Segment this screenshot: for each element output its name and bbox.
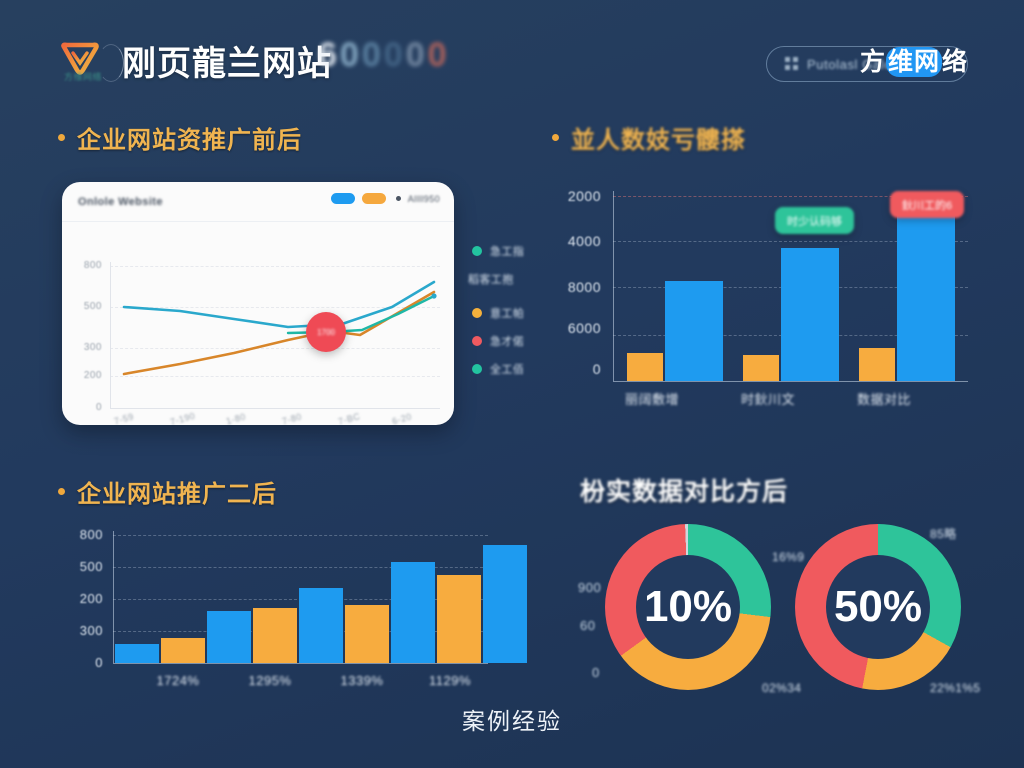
section-heading-bar-top: 並人数妓亏髏搽	[552, 120, 746, 155]
x-tick-label: 1129%	[407, 673, 493, 688]
bar-7[interactable]	[391, 562, 435, 663]
bar-blue-1[interactable]	[665, 281, 723, 381]
brand-watermark: 方维网络	[860, 44, 968, 80]
bullet-dot-icon	[58, 488, 65, 495]
side-legend-label: 全工佰	[490, 361, 524, 377]
logo-subtext: 方维网络	[64, 70, 102, 83]
page-title: 刚页龍兰网站	[122, 36, 332, 85]
logo: 方维网络	[54, 38, 130, 88]
legend-color-dot-icon	[472, 364, 482, 374]
legend-extra-label: Allll950	[408, 194, 440, 204]
x-axis-line	[613, 381, 968, 382]
y-tick-label: 0	[545, 361, 601, 377]
donut-center-right: 50%	[826, 555, 930, 659]
badge-red[interactable]: 鈥川工的6	[890, 191, 964, 218]
slide-canvas: 方维网络 刚页龍兰网站 600000 Putolasl Galoab 方维网络 …	[0, 0, 1024, 768]
bar-4[interactable]	[253, 608, 297, 663]
slide-header: 方维网络 刚页龍兰网站 600000 Putolasl Galoab 方维网络	[0, 0, 1024, 104]
bar-8[interactable]	[437, 575, 481, 663]
section-heading-donuts: 枌实数据对比方后	[580, 472, 788, 508]
side-legend-label: 稻客工抱	[468, 271, 514, 287]
bar-2[interactable]	[161, 638, 205, 663]
bar-orange-2[interactable]	[743, 355, 779, 381]
y-tick-label: 4000	[545, 233, 601, 249]
line-series-orange	[124, 292, 434, 374]
side-legend-item[interactable]: 稻客工抱	[472, 271, 550, 287]
line-chart-title: Onlole Website	[78, 196, 163, 208]
page-title-blurred-suffix: 600000	[318, 36, 450, 75]
bar-blue-3[interactable]	[897, 209, 955, 381]
line-chart-card: Onlole Website Allll950 800 500 300 200 …	[62, 182, 454, 425]
donut-center-left: 10%	[636, 555, 740, 659]
ghost-axis-label: 900	[578, 580, 601, 595]
y-tick-label: 800	[55, 527, 103, 542]
y-tick-label: 6000	[545, 320, 601, 336]
bar-blue-2[interactable]	[781, 248, 839, 381]
badge-teal[interactable]: 时少认码够	[775, 207, 854, 234]
x-tick-label: 1724%	[135, 673, 221, 688]
title-char-5: 0	[428, 36, 450, 74]
x-axis-line	[113, 663, 488, 664]
donut-center-value: 50%	[834, 582, 922, 632]
bar-3[interactable]	[207, 611, 251, 663]
donut-segment-label-orange: 02%34	[762, 681, 801, 695]
side-legend-item[interactable]: 急才偌	[472, 333, 550, 349]
y-tick-label: 0	[55, 655, 103, 670]
side-legend-item[interactable]: 全工佰	[472, 361, 550, 377]
title-char-4: 0	[406, 36, 428, 74]
x-tick-label: 1339%	[319, 673, 405, 688]
side-legend-label: 意工帕	[490, 305, 524, 321]
legend-color-dot-icon	[472, 246, 482, 256]
section-heading-label: 企业网站资推广前后	[77, 120, 302, 155]
x-tick-label: 丽阔敷增	[597, 389, 707, 408]
side-legend-item[interactable]: 急工指	[472, 243, 550, 259]
donut-center-value: 10%	[644, 582, 732, 632]
donut-segment-label-upper: 16%9	[772, 550, 804, 564]
bar-1[interactable]	[115, 644, 159, 663]
legend-pill-orange[interactable]	[362, 193, 386, 204]
footer-caption: 案例经验	[0, 702, 1024, 736]
logo-arc-decoration	[98, 44, 124, 82]
bar-5[interactable]	[299, 588, 343, 663]
donut-chart-left[interactable]: 10%	[605, 524, 771, 690]
y-tick-label: 500	[55, 559, 103, 574]
bar-orange-3[interactable]	[859, 348, 895, 381]
section-heading-line-card: 企业网站资推广前后	[58, 120, 302, 155]
x-tick-label: 1295%	[227, 673, 313, 688]
bar-orange-1[interactable]	[627, 353, 663, 381]
y-tick-label: 300	[55, 623, 103, 638]
title-char-1: 0	[340, 36, 362, 74]
donut-chart-right[interactable]: 50%	[795, 524, 961, 690]
section-heading-label: 並人数妓亏髏搽	[571, 120, 746, 155]
bullet-dot-icon	[552, 134, 559, 141]
chart-marker-bubble[interactable]: 1700	[306, 312, 346, 352]
line-chart-legend[interactable]: Allll950	[331, 193, 440, 204]
section-heading-label: 枌实数据对比方后	[580, 472, 788, 508]
side-legend-label: 急才偌	[490, 333, 524, 349]
title-char-0: 6	[318, 36, 340, 74]
legend-dot-icon	[396, 196, 401, 201]
y-tick-label: 8000	[545, 279, 601, 295]
brand-highlight: 维网	[886, 47, 942, 77]
x-tick-label: 时鈥川文	[713, 389, 823, 408]
title-char-2: 0	[362, 36, 384, 74]
bars-area	[113, 531, 488, 663]
line-endpoint-marker	[431, 293, 436, 298]
section-heading-bar-bottom: 企业网站推广二后	[58, 474, 277, 509]
line-series-group	[62, 222, 454, 425]
legend-pill-blue[interactable]	[331, 193, 355, 204]
line-chart-card-header: Onlole Website Allll950	[62, 182, 454, 222]
y-tick-label: 2000	[545, 188, 601, 204]
ghost-axis-label: 0	[592, 665, 600, 680]
chart-marker-label: 1700	[317, 328, 335, 337]
bar-9[interactable]	[483, 545, 527, 663]
side-legend-label: 急工指	[490, 243, 524, 259]
title-char-3: 0	[384, 36, 406, 74]
side-legend-list[interactable]: 急工指 稻客工抱 意工帕 急才偌 全工佰	[472, 243, 550, 389]
donut-segment-label-lower: 22%1%5	[930, 681, 980, 695]
y-tick-label: 200	[55, 591, 103, 606]
section-heading-label: 企业网站推广二后	[77, 474, 277, 509]
bar-chart-top: 0 6000 8000 4000 2000 时少认码够 鈥川工的6 丽阔敷增 时…	[545, 175, 995, 425]
donut-segment-label-teal: 85略	[930, 525, 957, 542]
x-tick-label: 数据对比	[829, 389, 939, 408]
ghost-axis-label: 60	[580, 618, 595, 633]
side-legend-item[interactable]: 意工帕	[472, 305, 550, 321]
bar-chart-bottom: 0 300 200 500 800 1724% 1295% 1339% 1129…	[55, 515, 505, 700]
bar-6[interactable]	[345, 605, 389, 663]
line-chart-plot: 800 500 300 200 0 1700	[62, 222, 454, 425]
grid-icon	[785, 57, 799, 71]
legend-color-dot-icon	[472, 336, 482, 346]
bullet-dot-icon	[58, 134, 65, 141]
legend-color-dot-icon	[472, 308, 482, 318]
